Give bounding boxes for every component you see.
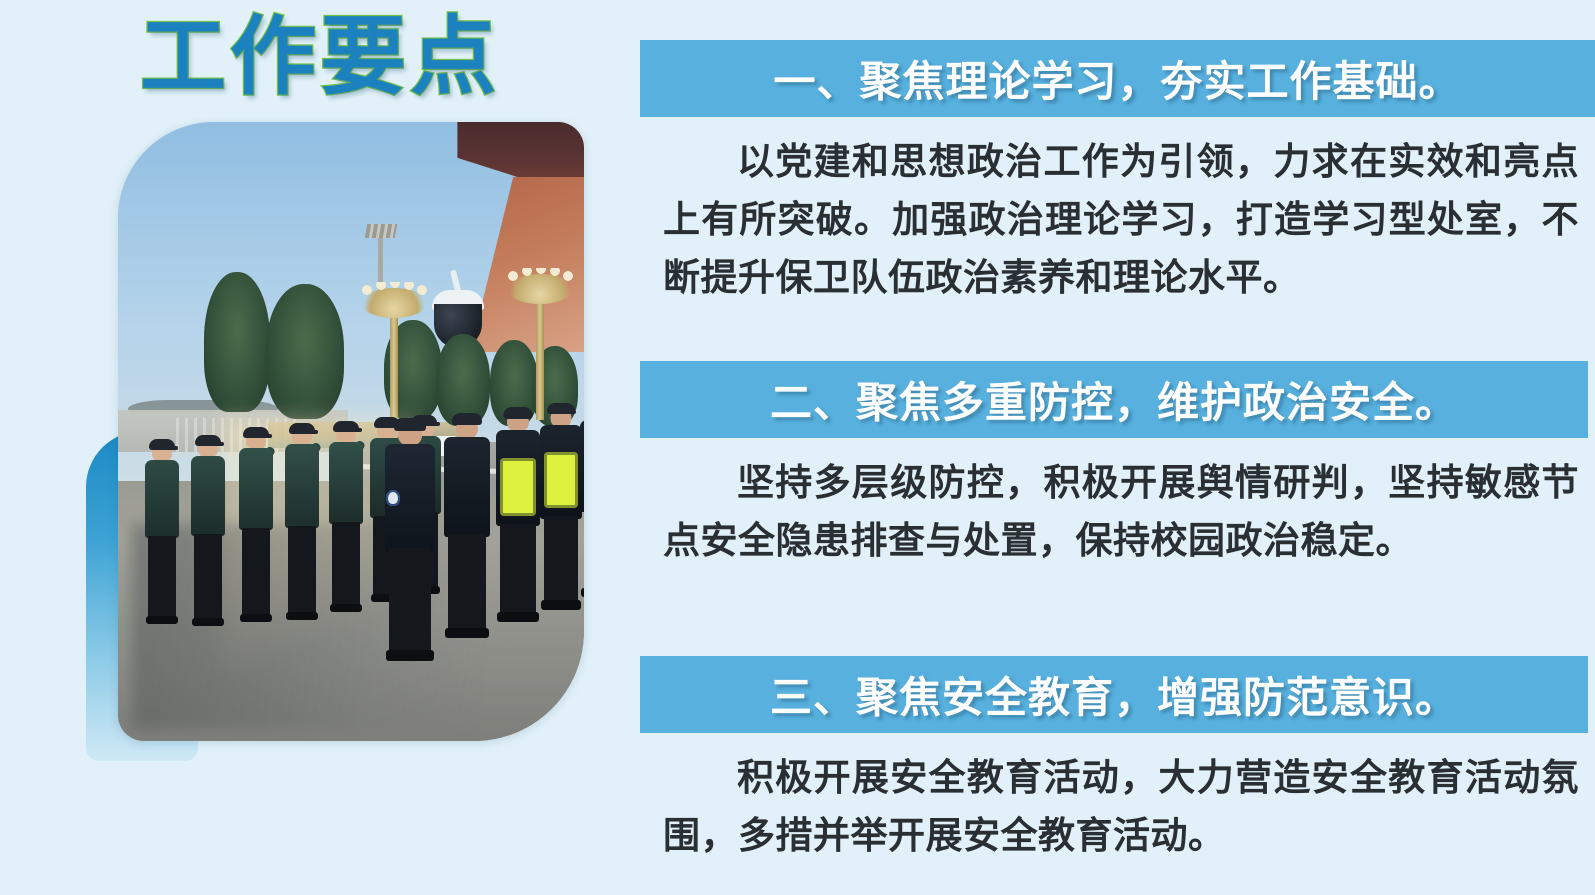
section-three-heading: 三、聚焦安全教育，增强防范意识。 [770, 664, 1458, 725]
torso [329, 442, 363, 524]
ornamental-lamp-pole [390, 300, 398, 430]
ornamental-lamp-pole [536, 288, 544, 420]
cap-icon [547, 403, 575, 414]
legs [448, 534, 486, 630]
section-two-heading-bar: 二、聚焦多重防控，维护政治安全。 [640, 361, 1588, 438]
tree [266, 284, 344, 419]
shoes [581, 588, 584, 597]
legs [544, 516, 578, 602]
legs [242, 528, 270, 616]
legs [148, 536, 176, 618]
legs [332, 522, 360, 606]
legs [288, 526, 316, 614]
section-two-heading: 二、聚焦多重防控，维护政治安全。 [770, 369, 1458, 430]
shoes [445, 628, 489, 638]
torso [444, 437, 490, 537]
feature-photo [118, 122, 584, 741]
tree [204, 272, 270, 412]
page-title: 工作要点 [0, 8, 640, 107]
shoes [240, 614, 272, 622]
floodlight-head [365, 224, 397, 238]
lamp-globes [359, 282, 429, 300]
shoes [541, 600, 581, 610]
section-one: 一、聚焦理论学习，夯实工作基础。 以党建和思想政治工作为引领，力求在实效和亮点上… [640, 40, 1595, 307]
shoes [330, 604, 362, 612]
cap-icon [195, 435, 221, 446]
shoes [192, 618, 224, 626]
photo-canvas [118, 122, 584, 741]
shoulder-badge [386, 490, 400, 506]
cap-icon [243, 427, 269, 438]
legs [500, 524, 536, 614]
section-one-heading: 一、聚焦理论学习，夯实工作基础。 [773, 48, 1461, 109]
section-three: 三、聚焦安全教育，增强防范意识。 积极开展安全教育活动，大力营造安全教育活动氛围… [640, 656, 1595, 865]
shoes [386, 650, 434, 661]
legs [389, 548, 431, 652]
shoes [146, 616, 178, 624]
cap-icon [149, 439, 175, 450]
left-column: 工作要点 [0, 0, 640, 895]
section-three-heading-bar: 三、聚焦安全教育，增强防范意识。 [640, 656, 1588, 733]
legs [194, 534, 222, 620]
cap-icon [452, 413, 482, 425]
hi-vis-vest [544, 452, 578, 508]
torso [145, 460, 179, 538]
right-column: 一、聚焦理论学习，夯实工作基础。 以党建和思想政治工作为引领，力求在实效和亮点上… [640, 0, 1595, 895]
cap-icon [289, 423, 315, 434]
cap-icon [394, 418, 426, 431]
section-three-body: 积极开展安全教育活动，大力营造安全教育活动氛围，多措并举开展安全教育活动。 [640, 749, 1595, 865]
lamp-globes [505, 268, 575, 286]
poster-root: 工作要点 [0, 0, 1595, 895]
torso [285, 444, 319, 528]
shoes [497, 612, 539, 622]
cap-icon [504, 407, 533, 419]
torso [191, 456, 225, 536]
shoes [286, 612, 318, 620]
section-one-body: 以党建和思想政治工作为引领，力求在实效和亮点上有所突破。加强政治理论学习，打造学… [640, 133, 1595, 307]
cap-icon [333, 421, 359, 432]
section-one-heading-bar: 一、聚焦理论学习，夯实工作基础。 [640, 40, 1595, 117]
hi-vis-vest [500, 458, 536, 516]
torso [239, 448, 273, 530]
section-two: 二、聚焦多重防控，维护政治安全。 坚持多层级防控，积极开展舆情研判，坚持敏感节点… [640, 361, 1595, 570]
section-two-body: 坚持多层级防控，积极开展舆情研判，坚持敏感节点安全隐患排查与处置，保持校园政治稳… [640, 454, 1595, 570]
